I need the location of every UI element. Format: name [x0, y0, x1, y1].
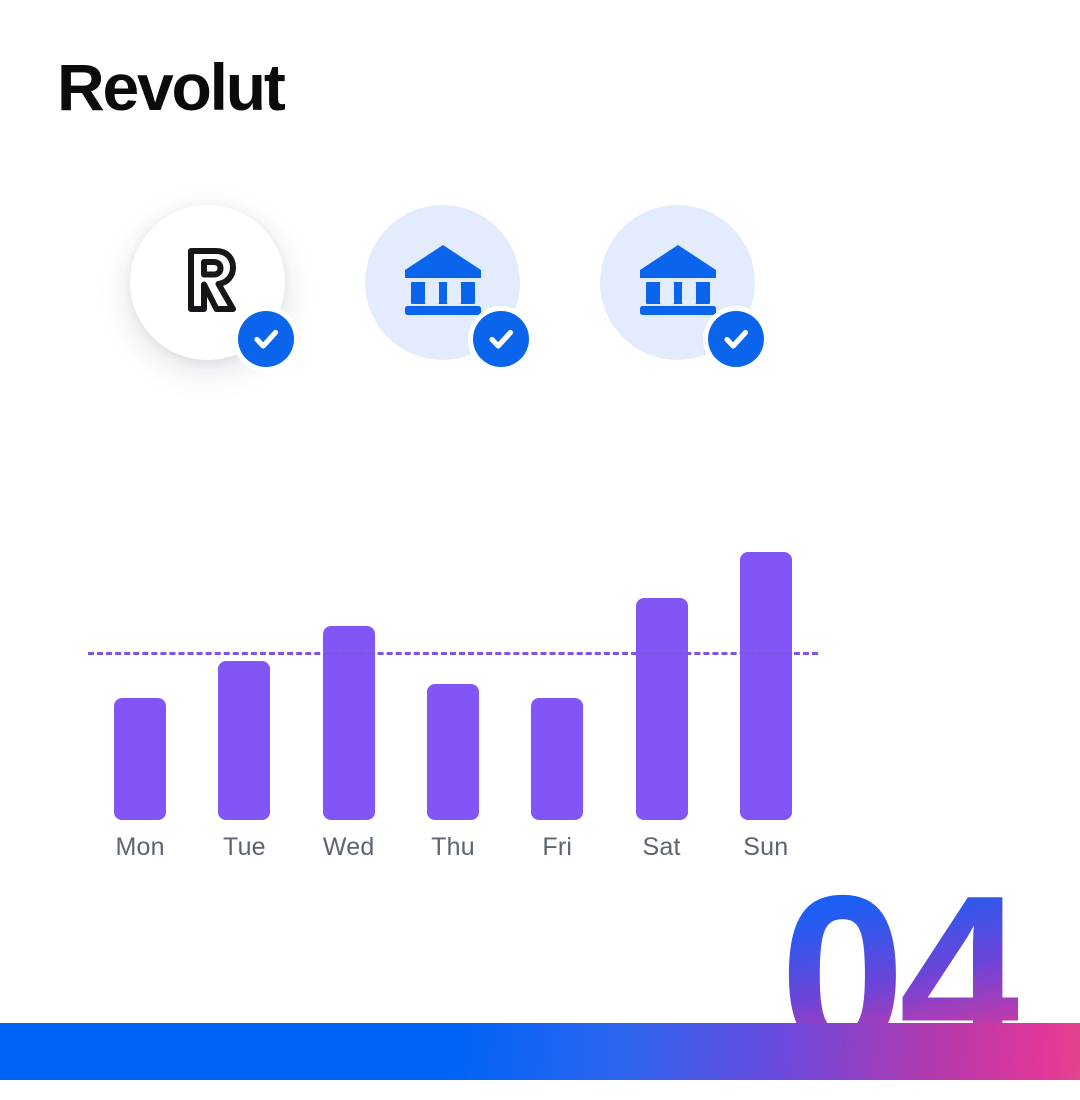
verified-badge-circle [708, 311, 764, 367]
check-icon [720, 323, 752, 355]
chart-x-label: Thu [427, 833, 479, 862]
chart-average-line [88, 652, 818, 655]
check-icon [485, 323, 517, 355]
revolut-logo-icon [167, 239, 249, 326]
chart-x-label: Fri [531, 833, 583, 862]
account-badge-bank-2[interactable] [600, 205, 755, 360]
verified-badge [703, 306, 769, 372]
bank-icon [638, 243, 718, 322]
account-badge-revolut[interactable] [130, 205, 285, 360]
chart-bar [323, 626, 375, 820]
chart-x-label: Tue [218, 833, 270, 862]
bottom-gradient-bar [0, 1023, 1080, 1080]
verified-badge [468, 306, 534, 372]
chart-bars [88, 545, 818, 820]
chart-x-label: Wed [323, 833, 375, 862]
chart-x-label: Mon [114, 833, 166, 862]
verified-badge-circle [473, 311, 529, 367]
chart-bar [114, 698, 166, 820]
chart-bar [218, 661, 270, 820]
linked-accounts-row [130, 205, 755, 360]
account-badge-bank-1[interactable] [365, 205, 520, 360]
chart-bar [636, 598, 688, 820]
bank-icon [403, 243, 483, 322]
chart-bar [740, 552, 792, 820]
check-icon [250, 323, 282, 355]
chart-bar [427, 684, 479, 820]
verified-badge [233, 306, 299, 372]
verified-badge-circle [238, 311, 294, 367]
weekly-spending-chart: MonTueWedThuFriSatSun [0, 545, 1080, 885]
chart-x-label: Sat [636, 833, 688, 862]
chart-bar [531, 698, 583, 820]
brand-wordmark: Revolut [57, 54, 284, 120]
chart-x-axis-labels: MonTueWedThuFriSatSun [88, 833, 818, 873]
